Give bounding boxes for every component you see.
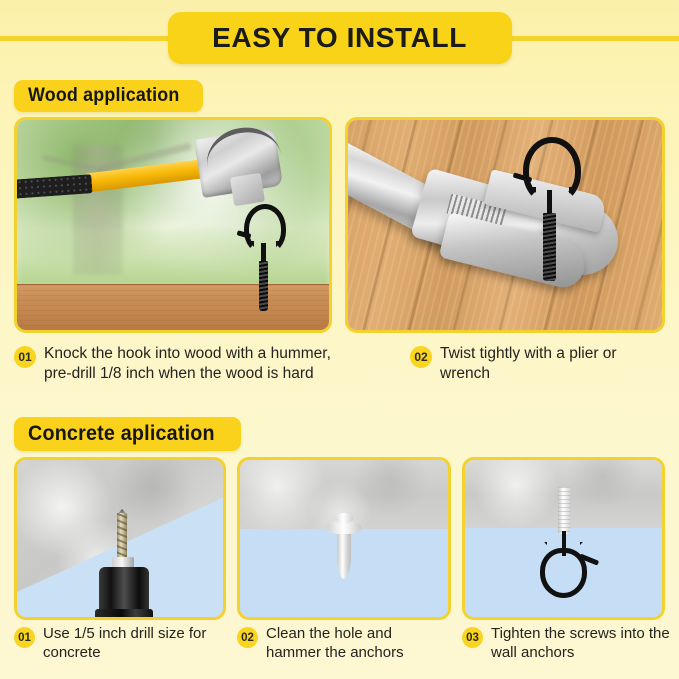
- hook-screw-thread: [543, 213, 555, 281]
- caption-text: Use 1/5 inch drill size for concrete: [43, 625, 219, 662]
- screw-hook-product: [511, 137, 605, 284]
- caption-concrete-step-1: 01 Use 1/5 inch drill size for concrete: [14, 625, 219, 662]
- scene-hook-in-anchor: [465, 460, 662, 617]
- caption-wood-step-1: 01 Knock the hook into wood with a humme…: [14, 344, 334, 384]
- image-panel-concrete-step-1: [14, 457, 226, 620]
- caption-text: Knock the hook into wood with a hummer, …: [44, 344, 334, 384]
- hook-screw-thread: [259, 261, 268, 311]
- section-label-wood: Wood application: [14, 80, 203, 112]
- page-title: EASY TO INSTALL: [212, 22, 467, 54]
- screw-hook-product: [235, 204, 304, 313]
- scene-wrench-on-deck: [348, 120, 662, 330]
- hammer-face: [230, 172, 265, 206]
- section-label-concrete: Concrete aplication: [14, 417, 241, 451]
- image-panel-wood-step-1: [14, 117, 332, 333]
- step-number-badge: 03: [462, 627, 483, 648]
- caption-text: Tighten the screws into the wall anchors: [491, 625, 672, 662]
- step-number-badge: 01: [14, 346, 36, 368]
- step-number-badge: 02: [410, 346, 432, 368]
- wall-anchor: [558, 487, 571, 534]
- drill-collar: [95, 609, 153, 620]
- step-number-badge: 02: [237, 627, 258, 648]
- scene-drill-concrete: [17, 460, 223, 617]
- scene-anchor-in-wall: [240, 460, 448, 617]
- step-number-badge: 01: [14, 627, 35, 648]
- image-panel-wood-step-2: [345, 117, 665, 333]
- caption-concrete-step-3: 03 Tighten the screws into the wall anch…: [462, 625, 672, 662]
- caption-text: Twist tightly with a plier or wrench: [440, 344, 660, 384]
- scene-hammer-on-wood: [17, 120, 329, 330]
- section-label-wood-text: Wood application: [28, 85, 180, 107]
- page-title-badge: EASY TO INSTALL: [168, 12, 512, 64]
- caption-wood-step-2: 02 Twist tightly with a plier or wrench: [410, 344, 660, 384]
- caption-text: Clean the hole and hammer the anchors: [266, 625, 447, 662]
- drill-bit: [117, 513, 127, 560]
- caption-concrete-step-2: 02 Clean the hole and hammer the anchors: [237, 625, 447, 662]
- section-label-concrete-text: Concrete aplication: [28, 422, 215, 446]
- image-panel-concrete-step-2: [237, 457, 451, 620]
- image-panel-concrete-step-3: [462, 457, 665, 620]
